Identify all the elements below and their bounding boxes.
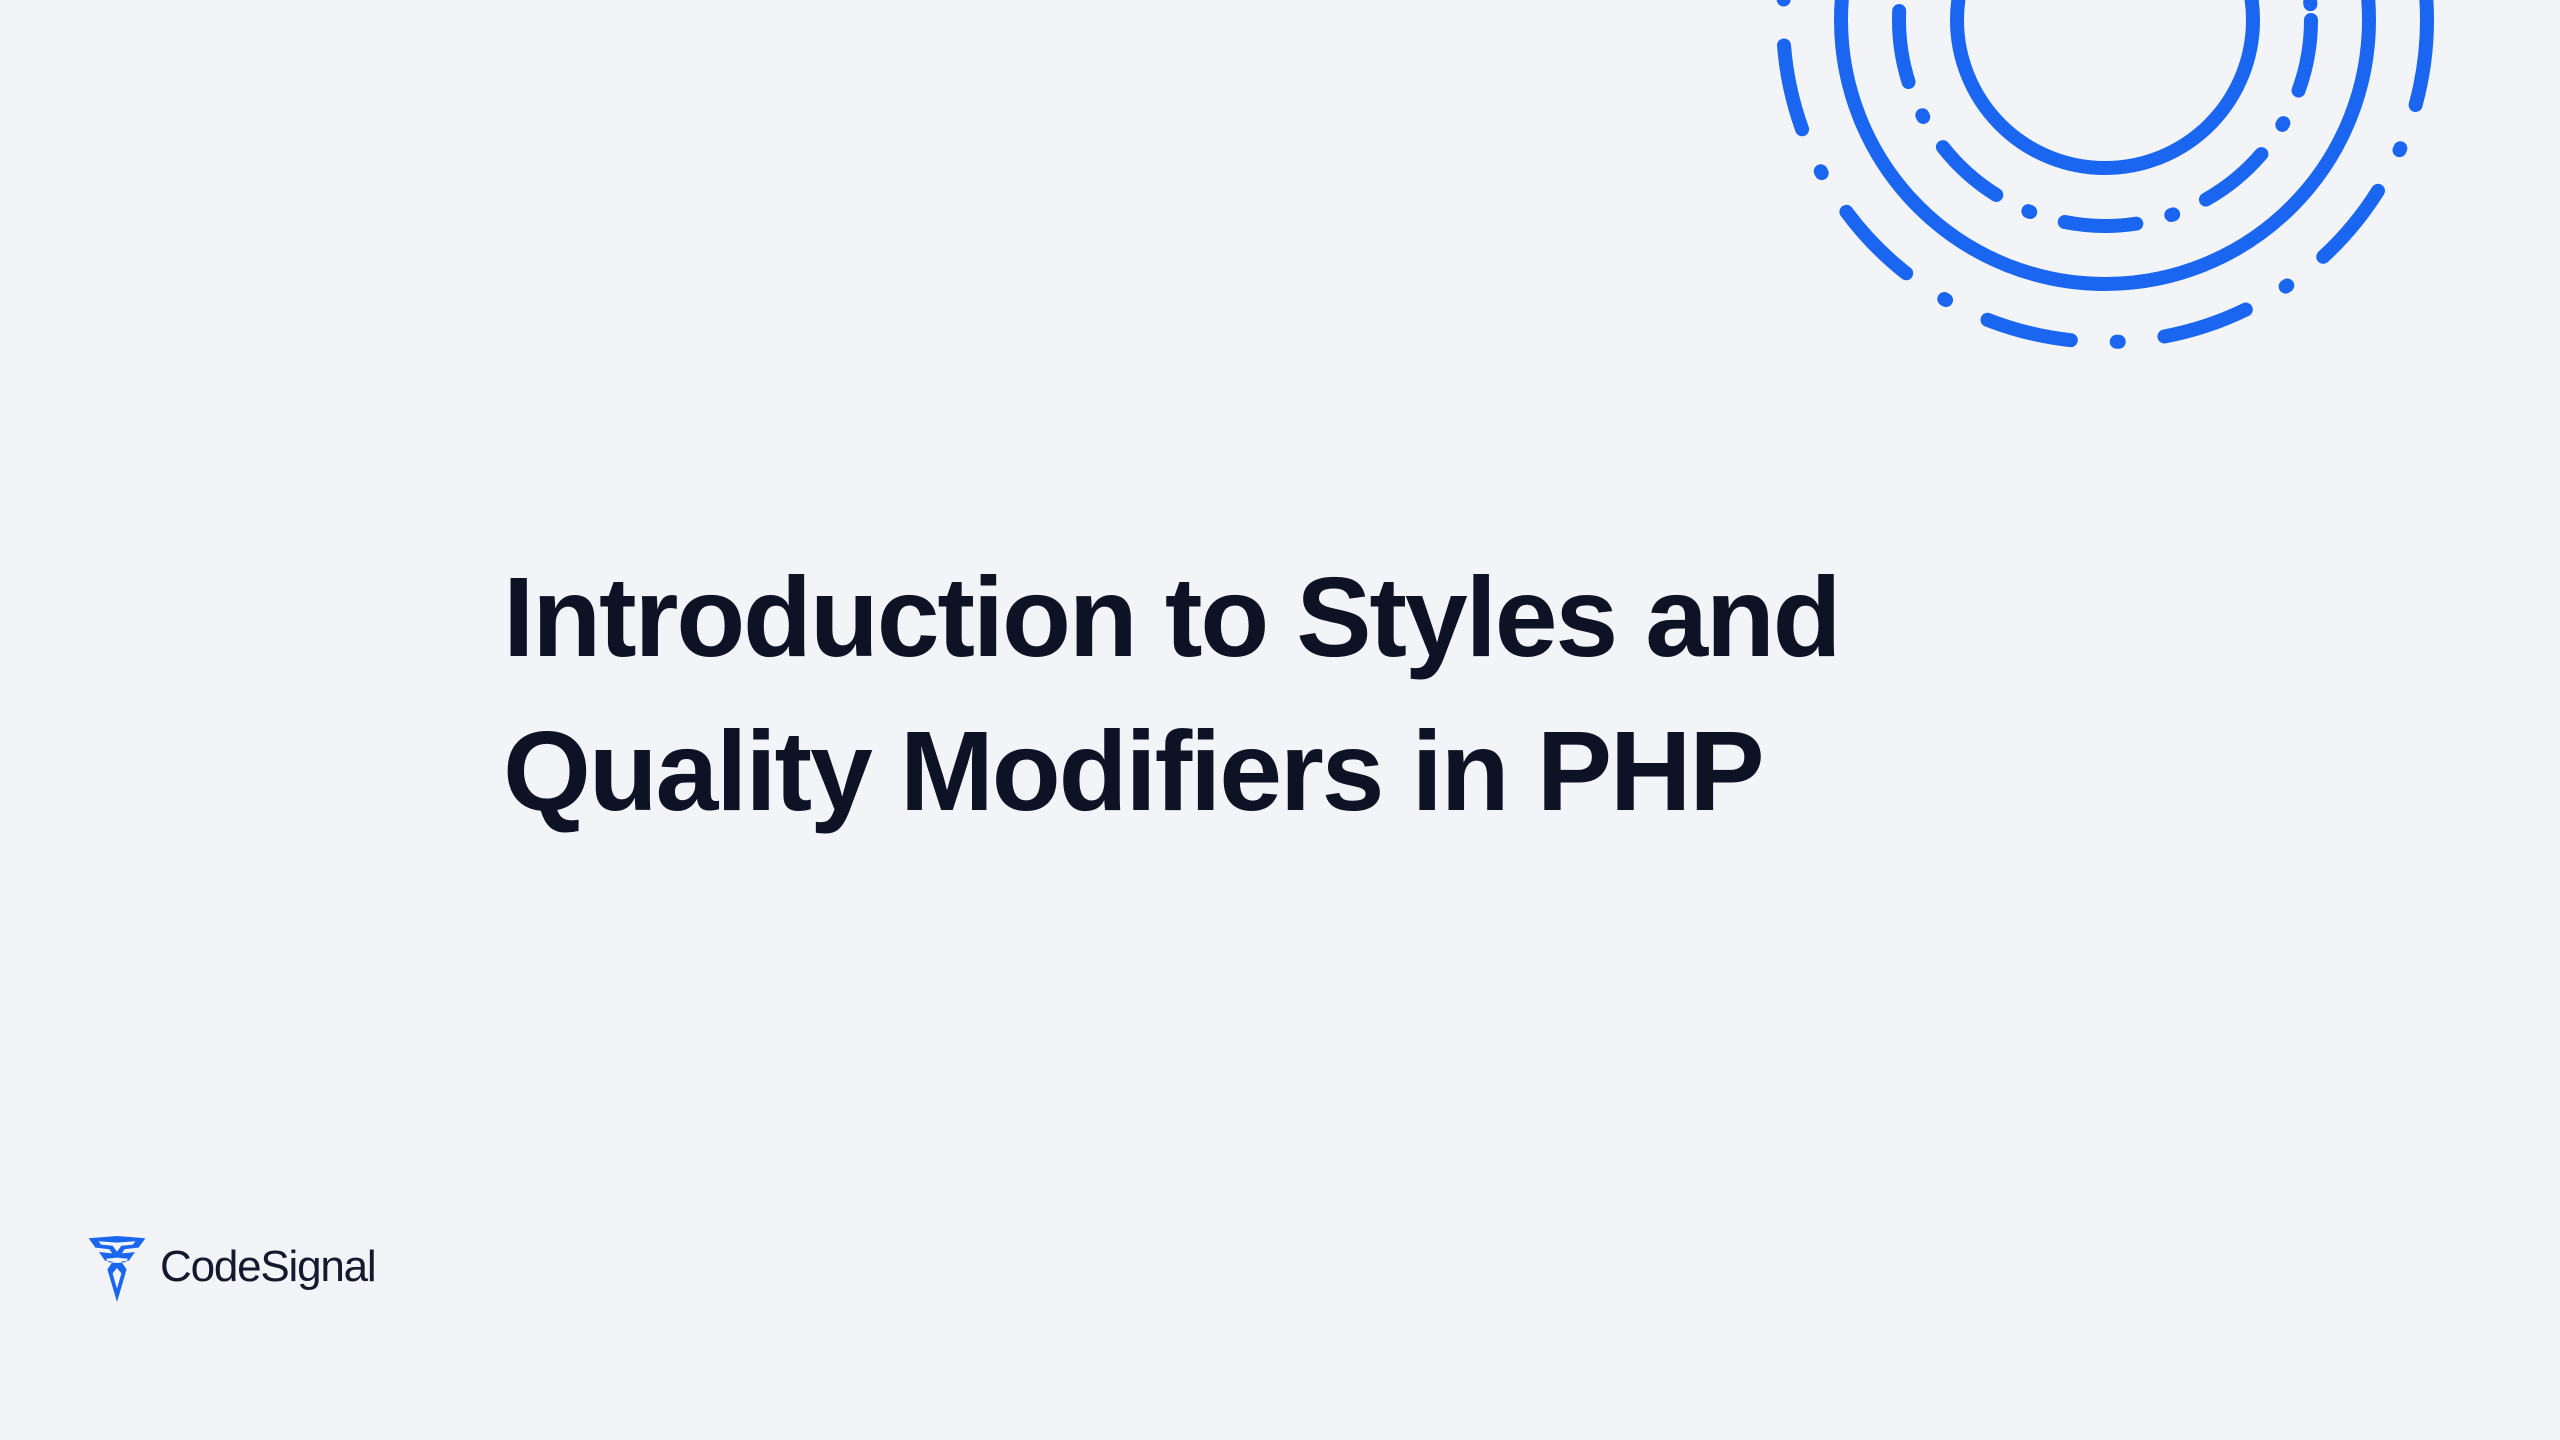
codesignal-wordmark: CodeSignal xyxy=(160,1245,376,1289)
title-line-1: Introduction to Styles and xyxy=(503,540,2203,694)
page-title: Introduction to Styles and Quality Modif… xyxy=(503,540,2203,848)
title-line-2: Quality Modifiers in PHP xyxy=(503,694,2203,848)
decorative-rings-graphic xyxy=(1745,0,2465,380)
codesignal-falcon-icon xyxy=(88,1236,146,1302)
ring-solid-3 xyxy=(1841,0,2369,284)
ring-solid-inner xyxy=(1957,0,2253,168)
slide-canvas: Introduction to Styles and Quality Modif… xyxy=(0,0,2560,1440)
codesignal-logo: CodeSignal xyxy=(88,1236,376,1302)
ring-dashed-4 xyxy=(1783,0,2427,342)
ring-dashed-2 xyxy=(1899,0,2311,226)
